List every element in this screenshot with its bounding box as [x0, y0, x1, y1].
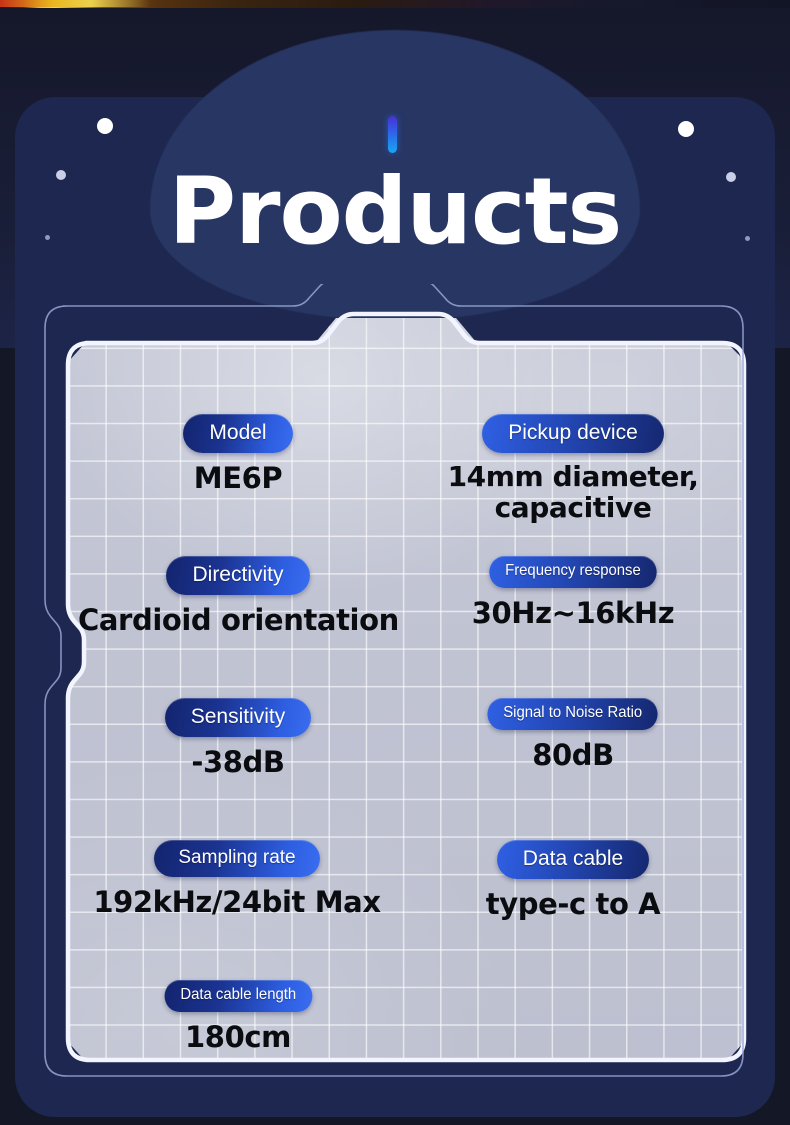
- spec-rows: Model ME6P Pickup device 14mm diameter, …: [68, 342, 744, 1062]
- spec-value-pickup-device: 14mm diameter, capacitive: [408, 462, 738, 524]
- spec-value-signal-to-noise-ratio: 80dB: [408, 739, 738, 771]
- spec-value-model: ME6P: [88, 462, 388, 494]
- spec-cell-model: Model ME6P: [88, 414, 388, 494]
- spec-cell-sampling-rate: Sampling rate 192kHz/24bit Max: [82, 840, 392, 918]
- spec-label-frequency-response: Frequency response: [489, 556, 656, 588]
- spec-label-directivity: Directivity: [166, 556, 309, 595]
- spec-cell-sensitivity: Sensitivity -38dB: [88, 698, 388, 778]
- spec-label-data-cable: Data cable: [497, 840, 649, 879]
- spec-label-pickup-device: Pickup device: [482, 414, 664, 453]
- spec-cell-signal-to-noise-ratio: Signal to Noise Ratio 80dB: [408, 698, 738, 771]
- product-spec-page: Products Model ME6P Picku: [0, 0, 790, 1125]
- accent-tick-icon: [388, 116, 397, 153]
- spec-label-sampling-rate: Sampling rate: [154, 840, 319, 877]
- spec-card: Model ME6P Pickup device 14mm diameter, …: [26, 300, 766, 1100]
- spec-cell-data-cable-length: Data cable length 180cm: [88, 980, 388, 1053]
- spec-label-sensitivity: Sensitivity: [165, 698, 312, 737]
- spec-value-data-cable: type-c to A: [408, 888, 738, 920]
- spec-value-directivity: Cardioid orientation: [78, 604, 398, 636]
- page-title: Products: [0, 166, 790, 258]
- spec-label-signal-to-noise-ratio: Signal to Noise Ratio: [488, 698, 659, 730]
- spec-value-data-cable-length: 180cm: [88, 1021, 388, 1053]
- spec-cell-frequency-response: Frequency response 30Hz~16kHz: [408, 556, 738, 629]
- spec-cell-data-cable: Data cable type-c to A: [408, 840, 738, 920]
- spec-value-sampling-rate: 192kHz/24bit Max: [82, 886, 392, 918]
- star-dot: [97, 118, 113, 134]
- star-dot: [678, 121, 694, 137]
- spec-value-sensitivity: -38dB: [88, 746, 388, 778]
- spec-label-model: Model: [183, 414, 292, 453]
- spec-cell-pickup-device: Pickup device 14mm diameter, capacitive: [408, 414, 738, 524]
- spec-cell-directivity: Directivity Cardioid orientation: [78, 556, 398, 636]
- spec-value-frequency-response: 30Hz~16kHz: [408, 597, 738, 629]
- spec-label-data-cable-length: Data cable length: [164, 980, 311, 1012]
